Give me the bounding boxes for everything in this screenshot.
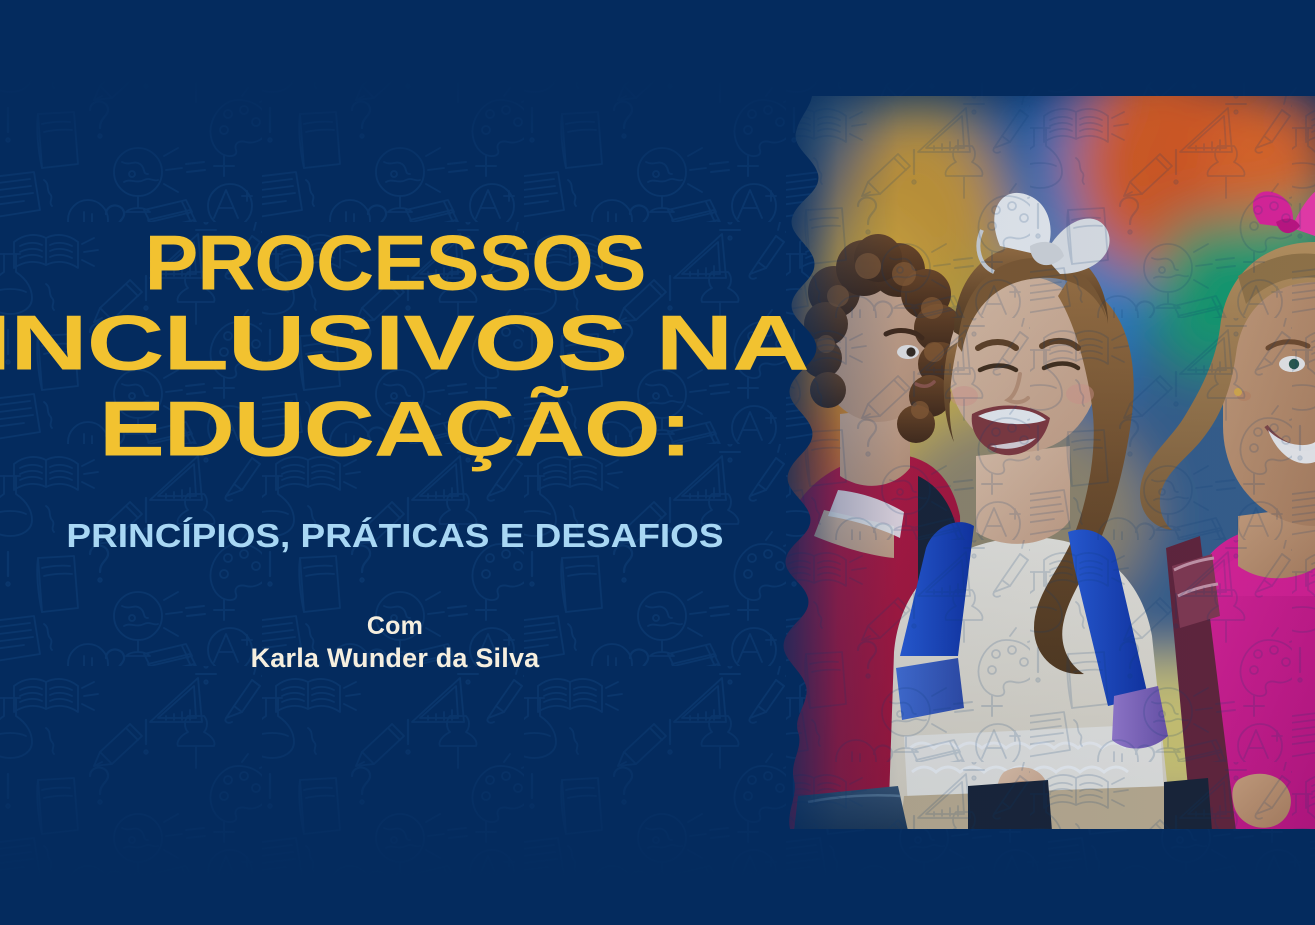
presenter-name: Karla Wunder da Silva xyxy=(0,641,790,675)
title-line-2: INCLUSIVOS NA xyxy=(0,305,956,383)
title-text-block: PROCESSOS INCLUSIVOS NA EDUCAÇÃO: PRINCÍ… xyxy=(0,0,790,925)
title-line-3: EDUCAÇÃO: xyxy=(0,391,909,469)
title-line-1: PROCESSOS xyxy=(0,225,814,303)
presentation-slide: PROCESSOS INCLUSIVOS NA EDUCAÇÃO: PRINCÍ… xyxy=(0,0,1315,925)
presenter-block: Com Karla Wunder da Silva xyxy=(0,611,790,675)
presenter-prefix: Com xyxy=(0,611,790,641)
subtitle: PRINCÍPIOS, PRÁTICAS E DESAFIOS xyxy=(0,519,837,552)
